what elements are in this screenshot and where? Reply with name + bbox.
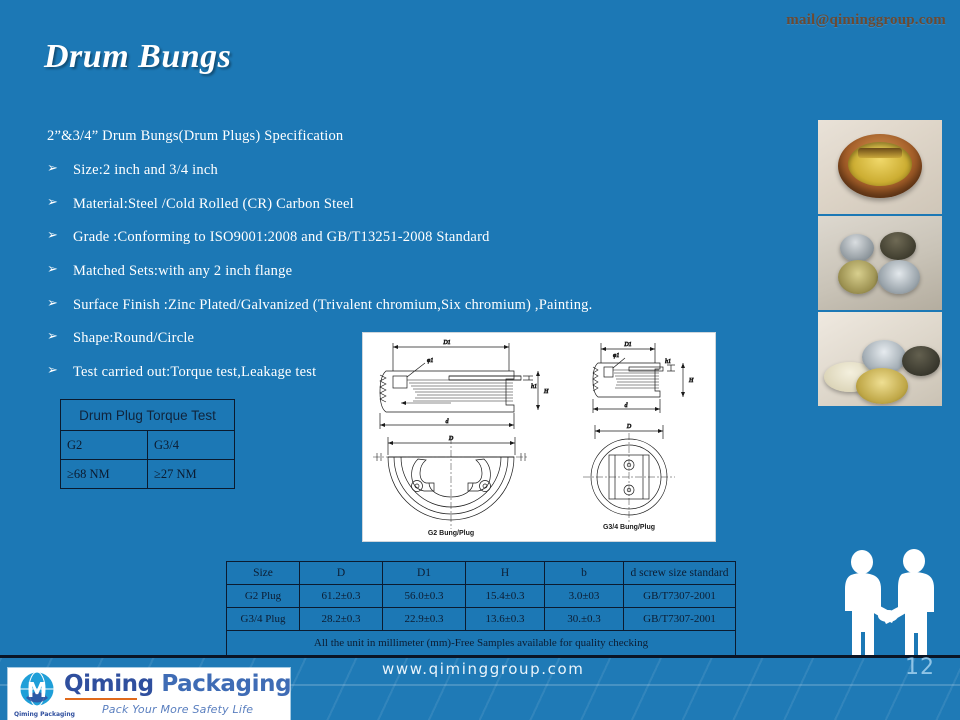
- spec-bullet-label: Size:2 inch and 3/4 inch: [73, 162, 727, 179]
- svg-text:G2 Bung/Plug: G2 Bung/Plug: [428, 530, 474, 537]
- product-photo-gallery: [818, 120, 942, 406]
- logo-globe-m-icon: M Qiming Packaging: [12, 669, 62, 719]
- product-photo-plug-pair: [818, 216, 942, 310]
- cell-size: G3/4 Plug: [227, 608, 300, 631]
- logo-name-line: Qiming Packaging: [64, 673, 291, 696]
- table-row: ≥68 NM ≥27 NM: [61, 460, 235, 489]
- torque-test-table: Drum Plug Torque Test G2 G3/4 ≥68 NM ≥27…: [60, 399, 235, 489]
- table-header-row: Size D D1 H b d screw size standard: [227, 562, 736, 585]
- svg-text:h1: h1: [531, 384, 537, 390]
- spec-bullet-label: Surface Finish :Zinc Plated/Galvanized (…: [73, 297, 727, 314]
- arrow-bullet-icon: ➢: [47, 196, 73, 211]
- cell-d1: 22.9±0.3: [383, 608, 466, 631]
- table-row: G3/4 Plug 28.2±0.3 22.9±0.3 13.6±0.3 30.…: [227, 608, 736, 631]
- torque-cell-value-g2: ≥68 NM: [61, 460, 148, 489]
- svg-text:H: H: [688, 378, 694, 384]
- col-header-size: Size: [227, 562, 300, 585]
- arrow-bullet-icon: ➢: [47, 330, 73, 345]
- spec-table-note: All the unit in millimeter (mm)-Free Sam…: [227, 631, 736, 656]
- spec-bullet-material: ➢ Material:Steel /Cold Rolled (CR) Carbo…: [47, 196, 727, 213]
- torque-table-title: Drum Plug Torque Test: [61, 400, 235, 431]
- cell-screw-standard: GB/T7307-2001: [624, 585, 736, 608]
- spec-bullet-label: Grade :Conforming to ISO9001:2008 and GB…: [73, 229, 727, 246]
- logo-globe-m-svg: M: [12, 669, 62, 715]
- technical-drawing-svg: D1 φ1: [363, 333, 715, 541]
- logo-name-part2: Packaging: [154, 671, 291, 697]
- spec-bullet-label: Matched Sets:with any 2 inch flange: [73, 263, 727, 280]
- photo-shape: [838, 260, 878, 294]
- cell-b: 3.0±03: [545, 585, 624, 608]
- photo-shape: [880, 232, 916, 260]
- photo-shape: [878, 260, 920, 294]
- svg-text:G3/4 Bung/Plug: G3/4 Bung/Plug: [603, 524, 655, 531]
- dimension-spec-table: Size D D1 H b d screw size standard G2 P…: [226, 561, 736, 656]
- svg-text:d: d: [446, 419, 450, 425]
- table-row: G2 G3/4: [61, 431, 235, 460]
- col-header-b: b: [545, 562, 624, 585]
- logo-tagline: Pack Your More Safety Life: [64, 703, 291, 716]
- logo-wordmark: Qiming Packaging Pack Your More Safety L…: [62, 673, 291, 716]
- logo-mark-caption: Qiming Packaging: [14, 711, 75, 718]
- arrow-bullet-icon: ➢: [47, 297, 73, 312]
- col-header-d: D: [300, 562, 383, 585]
- arrow-bullet-icon: ➢: [47, 162, 73, 177]
- table-row: G2 Plug 61.2±0.3 56.0±0.3 15.4±0.3 3.0±0…: [227, 585, 736, 608]
- svg-text:φ1: φ1: [427, 358, 433, 364]
- cell-d: 61.2±0.3: [300, 585, 383, 608]
- cell-b: 30.±0.3: [545, 608, 624, 631]
- cell-h: 13.6±0.3: [466, 608, 545, 631]
- torque-cell-value-g34: ≥27 NM: [147, 460, 234, 489]
- arrow-bullet-icon: ➢: [47, 364, 73, 379]
- svg-text:φ1: φ1: [613, 353, 619, 359]
- photo-shape: [840, 234, 874, 262]
- svg-text:d: d: [625, 403, 629, 409]
- svg-text:D1: D1: [623, 342, 631, 348]
- specification-heading: 2”&3/4” Drum Bungs(Drum Plugs) Specifica…: [47, 128, 727, 145]
- product-photo-brass-bung: [818, 120, 942, 214]
- photo-shape: [856, 368, 908, 404]
- cell-size: G2 Plug: [227, 585, 300, 608]
- contact-email: mail@qiminggroup.com: [786, 12, 946, 29]
- spec-bullet-grade: ➢ Grade :Conforming to ISO9001:2008 and …: [47, 229, 727, 246]
- svg-text:M: M: [27, 678, 47, 702]
- page-title: Drum Bungs: [44, 38, 231, 76]
- spec-bullet-matched-sets: ➢ Matched Sets:with any 2 inch flange: [47, 263, 727, 280]
- col-header-screw-standard: d screw size standard: [624, 562, 736, 585]
- spec-bullet-label: Material:Steel /Cold Rolled (CR) Carbon …: [73, 196, 727, 213]
- arrow-bullet-icon: ➢: [47, 263, 73, 278]
- slide-root: mail@qiminggroup.com Drum Bungs 2”&3/4” …: [0, 0, 960, 720]
- cell-d1: 56.0±0.3: [383, 585, 466, 608]
- product-photo-assorted-plugs: [818, 312, 942, 406]
- cell-d: 28.2±0.3: [300, 608, 383, 631]
- spec-bullet-surface-finish: ➢ Surface Finish :Zinc Plated/Galvanized…: [47, 297, 727, 314]
- photo-shape: [858, 148, 902, 158]
- svg-text:D: D: [626, 424, 632, 430]
- photo-shape: [902, 346, 940, 376]
- footer-website-url[interactable]: www.qiminggroup.com: [382, 660, 584, 678]
- cell-h: 15.4±0.3: [466, 585, 545, 608]
- arrow-bullet-icon: ➢: [47, 229, 73, 244]
- logo-underline-rule: [65, 698, 137, 700]
- table-row: Drum Plug Torque Test: [61, 400, 235, 431]
- svg-text:D1: D1: [442, 340, 450, 346]
- col-header-h: H: [466, 562, 545, 585]
- logo-name-part1: Qiming: [64, 671, 154, 697]
- torque-cell-thread-g2: G2: [61, 431, 148, 460]
- company-logo: M Qiming Packaging Qiming Packaging Pack…: [8, 668, 290, 720]
- torque-cell-thread-g34: G3/4: [147, 431, 234, 460]
- col-header-d1: D1: [383, 562, 466, 585]
- table-row: All the unit in millimeter (mm)-Free Sam…: [227, 631, 736, 656]
- svg-text:h1: h1: [665, 359, 671, 365]
- svg-text:H: H: [543, 389, 549, 395]
- cell-screw-standard: GB/T7307-2001: [624, 608, 736, 631]
- spec-bullet-size: ➢ Size:2 inch and 3/4 inch: [47, 162, 727, 179]
- page-number: 12: [905, 655, 935, 680]
- technical-drawing: D1 φ1: [362, 332, 716, 542]
